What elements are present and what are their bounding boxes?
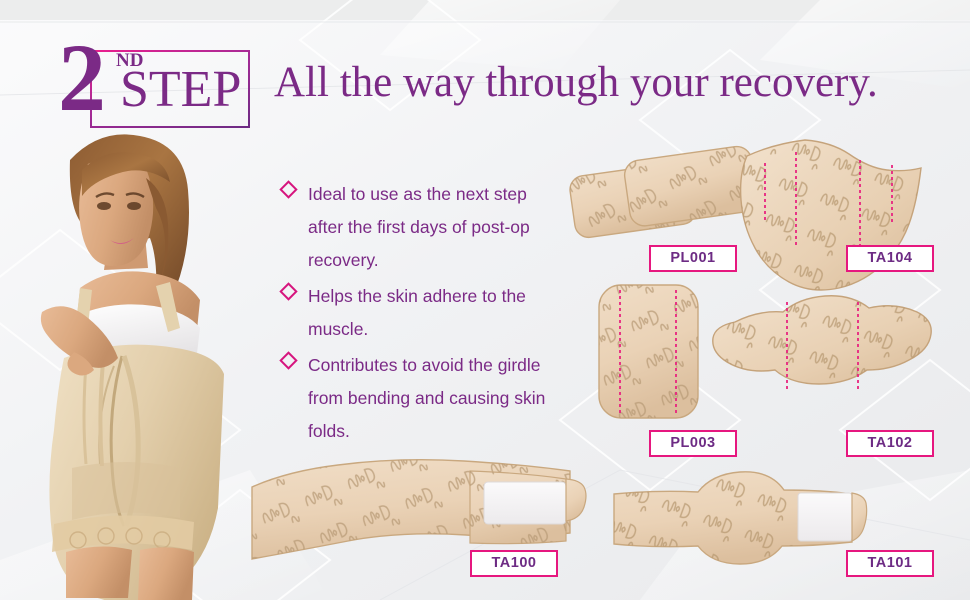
list-item: Helps the skin adhere to the muscle. — [280, 280, 550, 346]
product-label-ta100: TA100 — [470, 550, 558, 577]
diamond-icon — [279, 351, 297, 369]
list-item: Ideal to use as the next step after the … — [280, 178, 550, 277]
product-label-ta104: TA104 — [846, 245, 934, 272]
ta101-velcro-patch — [798, 493, 852, 541]
product-label-ta102: TA102 — [846, 430, 934, 457]
product-ta100 — [252, 460, 586, 559]
step-number: 2 — [58, 30, 102, 126]
product-pl001 — [568, 145, 758, 240]
product-label-pl003: PL003 — [649, 430, 737, 457]
ta100-velcro-patch — [484, 482, 566, 524]
list-item-label: Ideal to use as the next step after the … — [308, 184, 530, 270]
step-badge: 2 ND STEP — [58, 44, 250, 128]
list-item-label: Helps the skin adhere to the muscle. — [308, 286, 526, 339]
list-item-label: Contributes to avoid the girdle from ben… — [308, 355, 545, 441]
step-word: STEP — [120, 64, 241, 116]
product-label-pl001: PL001 — [649, 245, 737, 272]
page-title: All the way through your recovery. — [274, 58, 878, 109]
product-ta102 — [713, 296, 931, 392]
product-label-ta101: TA101 — [846, 550, 934, 577]
model-photo — [18, 120, 250, 600]
product-ta101 — [614, 472, 867, 564]
product-pl003 — [599, 285, 698, 418]
diamond-icon — [279, 282, 297, 300]
diamond-icon — [279, 180, 297, 198]
benefits-list: Ideal to use as the next step after the … — [280, 178, 550, 451]
list-item: Contributes to avoid the girdle from ben… — [280, 349, 550, 448]
